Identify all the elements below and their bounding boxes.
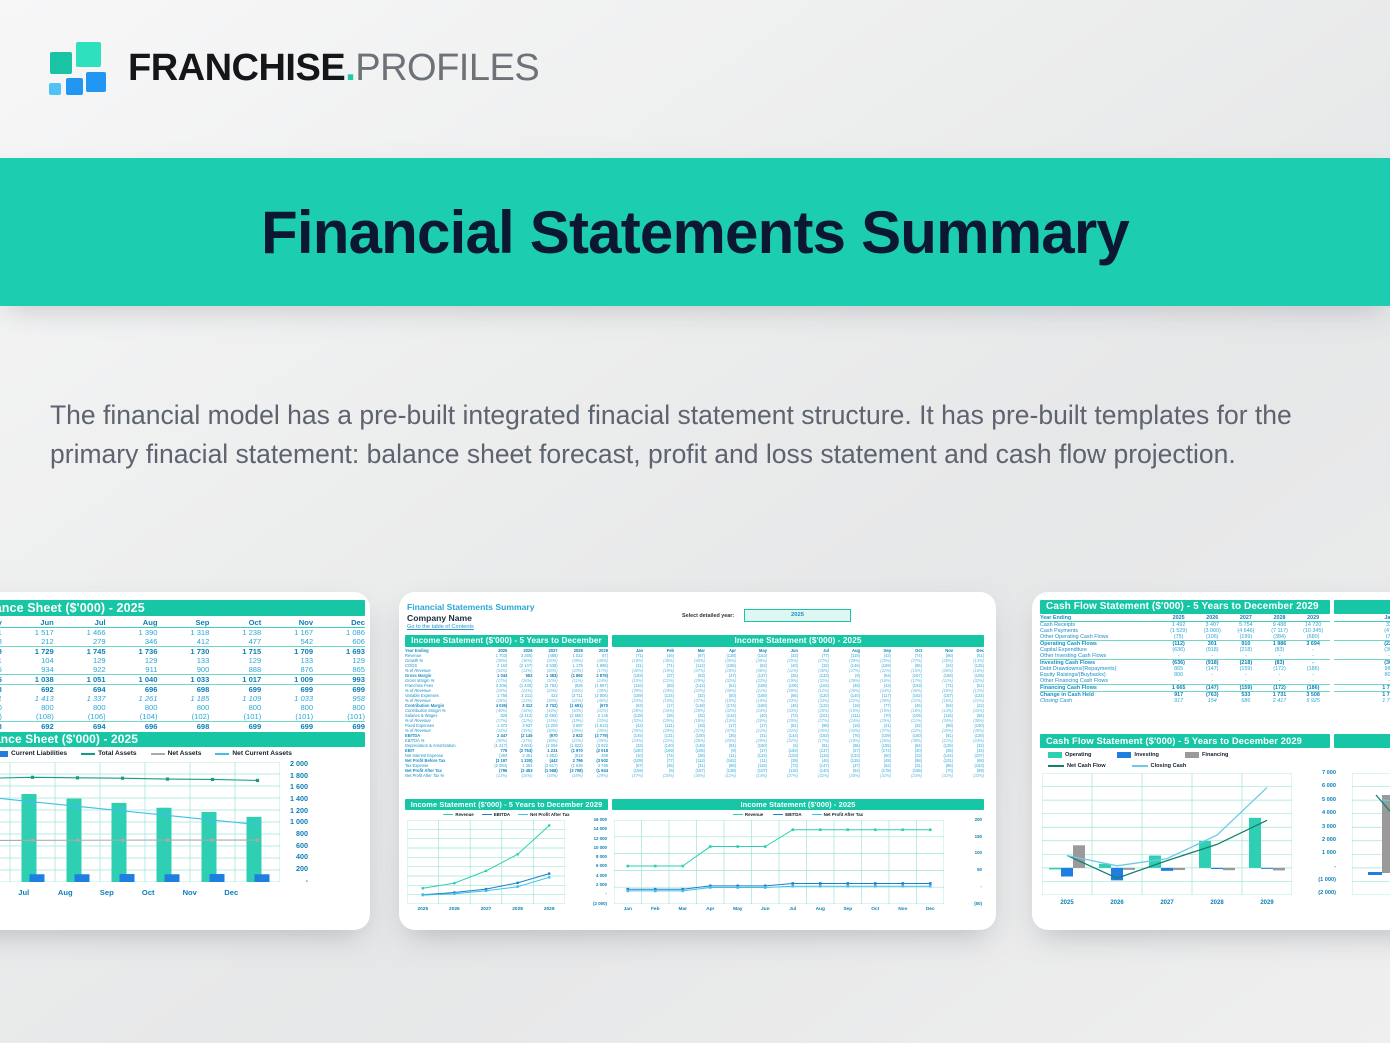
table-cell: 1 665 [1162,685,1196,692]
table-cell: 1 038 [2,675,54,685]
table-cell: 129 [209,656,261,665]
table-cell: 1 185 [158,694,210,703]
cash-flow-chart [1042,773,1292,895]
income-statement-card[interactable]: Financial Statements Summary Company Nam… [399,592,996,930]
table-cell: 1 749 [0,647,2,657]
table-cell: 800 [261,703,313,712]
table-row: 800800800800800800800800 [0,703,365,712]
row-label: Net Profit After Tax % [405,773,482,778]
table-cell: 1 571 [0,628,2,638]
cash-flow-y-axis: 7 0006 0005 0004 0003 0002 0001 000-(1 0… [1294,771,1336,897]
table-cell: 1 789 [1334,685,1390,692]
table-row: Net Profit After Tax %(13%)(26%)(18%)(18… [405,773,608,778]
table-cell: 686 [1229,698,1263,704]
table-cell: 1 009 [261,675,313,685]
y-tick: 16 000 [567,818,607,822]
table-cell: 800 [313,703,365,712]
y-tick: (2 000) [1294,891,1336,897]
x-tick: Dec [211,888,253,897]
table-row: (17%)(20%)(35%)(12%)(14%)(27%)(32%)(30%)… [612,773,984,778]
table-cell: 698 [158,685,210,695]
table-cell: (33%) [953,773,984,778]
table-cell: 412 [158,637,210,647]
table-cell: 2 417 [1263,698,1297,704]
y-tick: 5 000 [1294,798,1336,804]
x-tick: Jan [614,907,642,912]
legend-net-cash-flow: Net Cash Flow [1067,763,1106,769]
y-tick: 14 000 [567,827,607,831]
x-tick: 2027 [1142,900,1192,906]
income-5yr-y-axis: 16 00014 00012 00010 0008 0006 0004 0002… [567,818,607,906]
table-cell: (147) [1195,685,1229,692]
table-header-row: May Jun Jul Aug Sep Oct Nov Dec [0,618,365,628]
cash-flow-table: Year Ending20252026202720282029Cash Rece… [1040,615,1330,704]
x-tick: 2026 [439,907,471,912]
table-cell: 993 [313,675,365,685]
balance-sheet-table-title: Balance Sheet ($'000) - 2025 [0,600,365,616]
table-row: 1 5711 5171 4661 3901 3181 2381 1671 086 [0,628,365,638]
x-tick: 2027 [470,907,502,912]
table-row: 1 4711 4131 3371 2611 1851 1091 033958 [0,694,365,703]
y-tick: 1 200 [272,807,308,814]
table-cell: 699 [209,685,261,695]
y-tick: (1 000) [1294,878,1336,884]
table-cell: (14%) [736,773,767,778]
table-cell: 922 [54,665,106,675]
table-cell: 800 [106,703,158,712]
cash-flow-card[interactable]: Cash Flow Statement ($'000) - 5 Years to… [1032,592,1390,930]
balance-sheet-chart [0,762,280,882]
row-label: Closing Cash [1040,698,1162,704]
x-tick: 2025 [1042,900,1092,906]
table-cell: (18%) [558,773,583,778]
y-tick: 12 000 [567,837,607,841]
y-tick: 3 000 [1294,825,1336,831]
table-cell: 346 [106,637,158,647]
table-cell: 800 [158,703,210,712]
y-tick: 2 000 [1294,838,1336,844]
table-cell: 1 337 [54,694,106,703]
table-cell: 911 [106,665,158,675]
legend-npat: Net Profit After Tax [530,812,570,817]
doc-title: Financial Statements Summary [407,602,535,612]
brand-secondary: PROFILES [355,47,539,89]
cash-flow-month-table: Jan32(47)(7)(22)(36)-(36)989800-1 7891 7… [1334,615,1390,704]
table-cell: 1 033 [158,675,210,685]
x-tick: May [724,907,752,912]
table-cell: 1 731 [1334,698,1390,704]
x-tick: Jan [1352,900,1390,906]
legend-financing: Financing [1202,752,1228,758]
table-cell: 1 730 [158,647,210,657]
cash-flow-month-chart [1352,773,1390,895]
table-cell: (17%) [612,773,643,778]
cash-flow-month-x-axis: Jan [1352,900,1390,906]
table-row: 945934922911900888876865 [0,665,365,675]
table-cell: (106) [54,712,106,722]
table-cell: 129 [313,656,365,665]
table-cell: 1 261 [106,694,158,703]
legend-ebitda: EBITDA [785,812,801,817]
cash-flow-table-title-right [1334,600,1390,614]
table-cell: 1 693 [313,647,365,657]
x-tick: Feb [642,907,670,912]
table-cell: 606 [313,637,365,647]
y-tick: 2 000 [272,760,308,767]
y-tick: 800 [272,830,308,837]
legend-npat: Net Profit After Tax [824,812,864,817]
table-row: 1 0451 0381 0511 0401 0331 0171 009993 [0,675,365,685]
y-tick: 6 000 [567,864,607,868]
table-cell: 1 736 [106,647,158,657]
y-tick: 7 000 [1294,771,1336,777]
y-tick: - [1294,865,1336,871]
table-cell: 900 [158,665,210,675]
table-cell: 133 [261,656,313,665]
cash-flow-chart-title: Cash Flow Statement ($'000) - 5 Years to… [1040,734,1330,748]
table-cell: (172) [1263,685,1297,692]
y-tick: 400 [272,853,308,860]
x-tick: Oct [128,888,170,897]
balance-sheet-x-axis: MayJunJulAugSepOctNovDec [0,888,252,897]
y-tick: 150 [946,835,982,839]
table-cell: 1 033 [261,694,313,703]
table-cell: 279 [54,637,106,647]
cash-flow-x-axis: 20252026202720282029 [1042,900,1292,906]
col-aug: Aug [106,618,158,628]
table-row: 178212279346412477542606 [0,637,365,647]
table-cell: 104 [2,656,54,665]
table-cell: (20%) [643,773,674,778]
income-monthly-chart [614,820,944,904]
x-tick: Jul [779,907,807,912]
table-cell: 1 017 [209,675,261,685]
table-cell: 1 729 [2,647,54,657]
table-cell: (32%) [798,773,829,778]
cash-flow-table-title: Cash Flow Statement ($'000) - 5 Years to… [1040,600,1330,614]
legend-net-assets: Net Assets [168,750,202,757]
table-cell: 696 [106,722,158,732]
income-monthly-legend: Revenue EBITDA Net Profit After Tax [612,812,984,817]
table-cell: 133 [158,656,210,665]
balance-sheet-y-axis: 2 0001 8001 6001 4001 2001 0008006004002… [272,760,308,884]
table-cell: (186) [1296,685,1330,692]
table-cell: (26%) [507,773,532,778]
table-cell: (159) [1229,685,1263,692]
col-sep: Sep [158,618,210,628]
x-tick: Jul [3,888,45,897]
company-name: Company Name [407,613,472,623]
table-cell: 917 [1162,698,1196,704]
table-cell: 698 [158,722,210,732]
brand-logo: FRANCHISE.PROFILES [48,40,539,96]
table-row: 703692694696698699699699 [0,722,365,732]
table-cell: 699 [261,685,313,695]
table-cell: 1 086 [313,628,365,638]
col-nov: Nov [261,618,313,628]
y-tick: 1 800 [272,772,308,779]
col-jun: Jun [2,618,54,628]
table-cell: 1 318 [158,628,210,638]
x-tick: Mar [669,907,697,912]
legend-net-current-assets: Net Current Assets [232,750,291,757]
income-monthly-table-title: Income Statement ($'000) - 2025 [612,635,984,647]
legend-closing-cash: Closing Cash [1151,763,1187,769]
income-monthly-y-axis: 20015010050-(50) [946,818,982,906]
y-tick: 50 [946,868,982,872]
y-tick: 4 000 [567,874,607,878]
table-cell: 477 [209,637,261,647]
table-row: Closing Cash9171546862 4175 925 [1040,698,1330,704]
legend-total-assets: Total Assets [98,750,136,757]
table-cell: 696 [106,685,158,695]
cash-flow-screenshot: Cash Flow Statement ($'000) - 5 Years to… [1032,592,1390,930]
y-tick: 1 400 [272,795,308,802]
table-row: 1 731 [1334,698,1390,704]
table-cell: 865 [313,665,365,675]
brand-dot: . [345,47,355,89]
table-cell: 1 109 [209,694,261,703]
table-row: 1 789 [1334,685,1390,692]
legend-ebitda: EBITDA [494,812,510,817]
col-jul: Jul [54,618,106,628]
table-cell: 101 [0,656,2,665]
y-tick: - [946,885,982,889]
table-row: 1 7491 7291 7451 7361 7301 7151 7091 693 [0,647,365,657]
table-cell: 934 [2,665,54,675]
table-row: (97)(108)(106)(104)(102)(101)(101)(101) [0,712,365,722]
table-cell: (31%) [922,773,953,778]
col-may: May [0,618,2,628]
table-cell: (102) [158,712,210,722]
brand-wordmark: FRANCHISE.PROFILES [128,47,539,90]
table-cell: 5 925 [1296,698,1330,704]
y-tick: 100 [946,851,982,855]
y-tick: 4 000 [1294,811,1336,817]
table-cell: 129 [54,656,106,665]
year-selector-input[interactable]: 2025 [744,609,851,622]
table-cell: (108) [2,712,54,722]
table-cell: 1 040 [106,675,158,685]
income-5yr-table: Year Ending20252026202720282029Revenue1 … [405,648,608,778]
y-tick: 200 [946,818,982,822]
income-5yr-chart [407,820,565,904]
table-row: Financing Cash Flows1 665(147)(159)(172)… [1040,685,1330,692]
legend-revenue: Revenue [455,812,473,817]
y-tick: - [567,892,607,896]
table-cell: 1 466 [54,628,106,638]
table-cell: (12%) [705,773,736,778]
table-cell: 694 [54,722,106,732]
x-tick: 2029 [1242,900,1292,906]
balance-sheet-legend: Current Assets Current Liabilities Total… [0,750,322,757]
table-cell: 1 051 [54,675,106,685]
table-cell: (13%) [482,773,507,778]
table-cell: 542 [261,637,313,647]
brand-primary: FRANCHISE [128,47,345,89]
y-tick: 600 [272,842,308,849]
income-monthly-chart-title: Income Statement ($'000) - 2025 [612,799,984,810]
col-oct: Oct [209,618,261,628]
x-tick: 2029 [533,907,565,912]
table-cell: 699 [313,685,365,695]
table-row: 101104129129133129133129 [0,656,365,665]
table-cell: 945 [0,665,2,675]
table-cell: 1 715 [209,647,261,657]
table-cell: 699 [209,722,261,732]
x-tick: Nov [889,907,917,912]
income-5yr-table-title: Income Statement ($'000) - 5 Years to De… [405,635,608,647]
y-tick: 10 000 [567,846,607,850]
x-tick: Jun [752,907,780,912]
table-cell: 699 [261,722,313,732]
x-tick: 2028 [502,907,534,912]
table-cell: 1 517 [2,628,54,638]
table-cell: 958 [313,694,365,703]
table-cell: (35%) [674,773,705,778]
y-tick: (50) [946,902,982,906]
x-tick: Sep [834,907,862,912]
legend-revenue: Revenue [745,812,763,817]
y-tick: 1 000 [1294,851,1336,857]
table-cell: 703 [0,685,2,695]
table-cell: (97) [0,712,2,722]
table-cell: 212 [2,637,54,647]
income-5yr-legend: Revenue EBITDA Net Profit After Tax [405,812,608,817]
x-tick: 2028 [1192,900,1242,906]
y-tick: 200 [272,865,308,872]
y-tick: 8 000 [567,855,607,859]
table-cell: 694 [54,685,106,695]
table-cell: 1 238 [209,628,261,638]
table-cell: 1 413 [2,694,54,703]
table-cell: 1 745 [54,647,106,657]
table-cell: (101) [261,712,313,722]
year-selector-label: Select detailed year: [682,613,734,619]
title-band: Financial Statements Summary [0,158,1390,306]
cash-flow-legend-row2: Net Cash Flow Closing Cash [1048,763,1248,769]
x-tick: Dec [917,907,945,912]
income-5yr-x-axis: 20252026202720282029 [407,907,565,912]
intro-paragraph: The financial model has a pre-built inte… [50,396,1340,474]
table-cell: (23%) [891,773,922,778]
x-tick: 2025 [407,907,439,912]
table-cell: 1 709 [261,647,313,657]
col-dec: Dec [313,618,365,628]
x-tick: Apr [697,907,725,912]
table-cell: (30%) [829,773,860,778]
income-statement-screenshot: Financial Statements Summary Company Nam… [399,592,996,930]
x-tick: Aug [807,907,835,912]
table-cell: (29%) [583,773,608,778]
cash-flow-chart-title-right [1334,734,1390,748]
y-tick: 1 000 [272,818,308,825]
table-cell: 800 [0,703,2,712]
balance-sheet-screenshot: Balance Sheet ($'000) - 2025 May Jun Jul… [0,592,370,930]
x-tick: Nov [169,888,211,897]
income-monthly-x-axis: JanFebMarAprMayJunJulAugSepOctNovDec [614,907,944,912]
table-cell: 876 [261,665,313,675]
row-label: Financing Cash Flows [1040,685,1162,692]
y-tick: 1 600 [272,783,308,790]
table-cell: 129 [106,656,158,665]
table-row: 703692694696698699699699 [0,685,365,695]
franchise-profiles-logo-icon [48,40,110,96]
table-cell: (101) [313,712,365,722]
balance-sheet-card[interactable]: Balance Sheet ($'000) - 2025 May Jun Jul… [0,592,370,930]
page-title: Financial Statements Summary [261,198,1129,267]
x-tick: 2026 [1092,900,1142,906]
table-cell: 800 [54,703,106,712]
table-cell: (104) [106,712,158,722]
table-cell: 154 [1195,698,1229,704]
table-cell: (18%) [532,773,557,778]
y-tick: 6 000 [1294,784,1336,790]
table-cell: 1 390 [106,628,158,638]
legend-current-liabilities: Current Liabilities [11,750,67,757]
table-cell: 1 045 [0,675,2,685]
x-tick: Sep [86,888,128,897]
table-cell: 692 [2,685,54,695]
x-tick: Oct [862,907,890,912]
y-tick: 2 000 [567,883,607,887]
table-cell: 692 [2,722,54,732]
table-cell: (101) [209,712,261,722]
table-cell: 800 [209,703,261,712]
x-tick: Aug [45,888,87,897]
y-tick: - [272,877,308,884]
table-cell: 800 [2,703,54,712]
table-cell: 178 [0,637,2,647]
income-monthly-table: JanFebMarAprMayJunJulAugSepOctNovDec(71)… [612,648,984,778]
income-5yr-chart-title: Income Statement ($'000) - 5 Years to De… [405,799,608,810]
table-cell: 888 [209,665,261,675]
legend-operating: Operating [1065,752,1091,758]
y-tick: (2 000) [567,902,607,906]
table-cell: 1 167 [261,628,313,638]
balance-sheet-chart-title: Balance Sheet ($'000) - 2025 [0,732,365,747]
table-cell: 699 [313,722,365,732]
cash-flow-legend-row1: Operating Investing Financing [1048,752,1308,758]
table-cell: 703 [0,722,2,732]
table-cell: (27%) [767,773,798,778]
table-cell: 1 471 [0,694,2,703]
balance-sheet-table: May Jun Jul Aug Sep Oct Nov Dec 1 5711 5… [0,618,365,731]
toc-link[interactable]: Go to the table of Contents [407,624,474,630]
table-cell: (31%) [860,773,891,778]
legend-investing: Investing [1134,752,1159,758]
